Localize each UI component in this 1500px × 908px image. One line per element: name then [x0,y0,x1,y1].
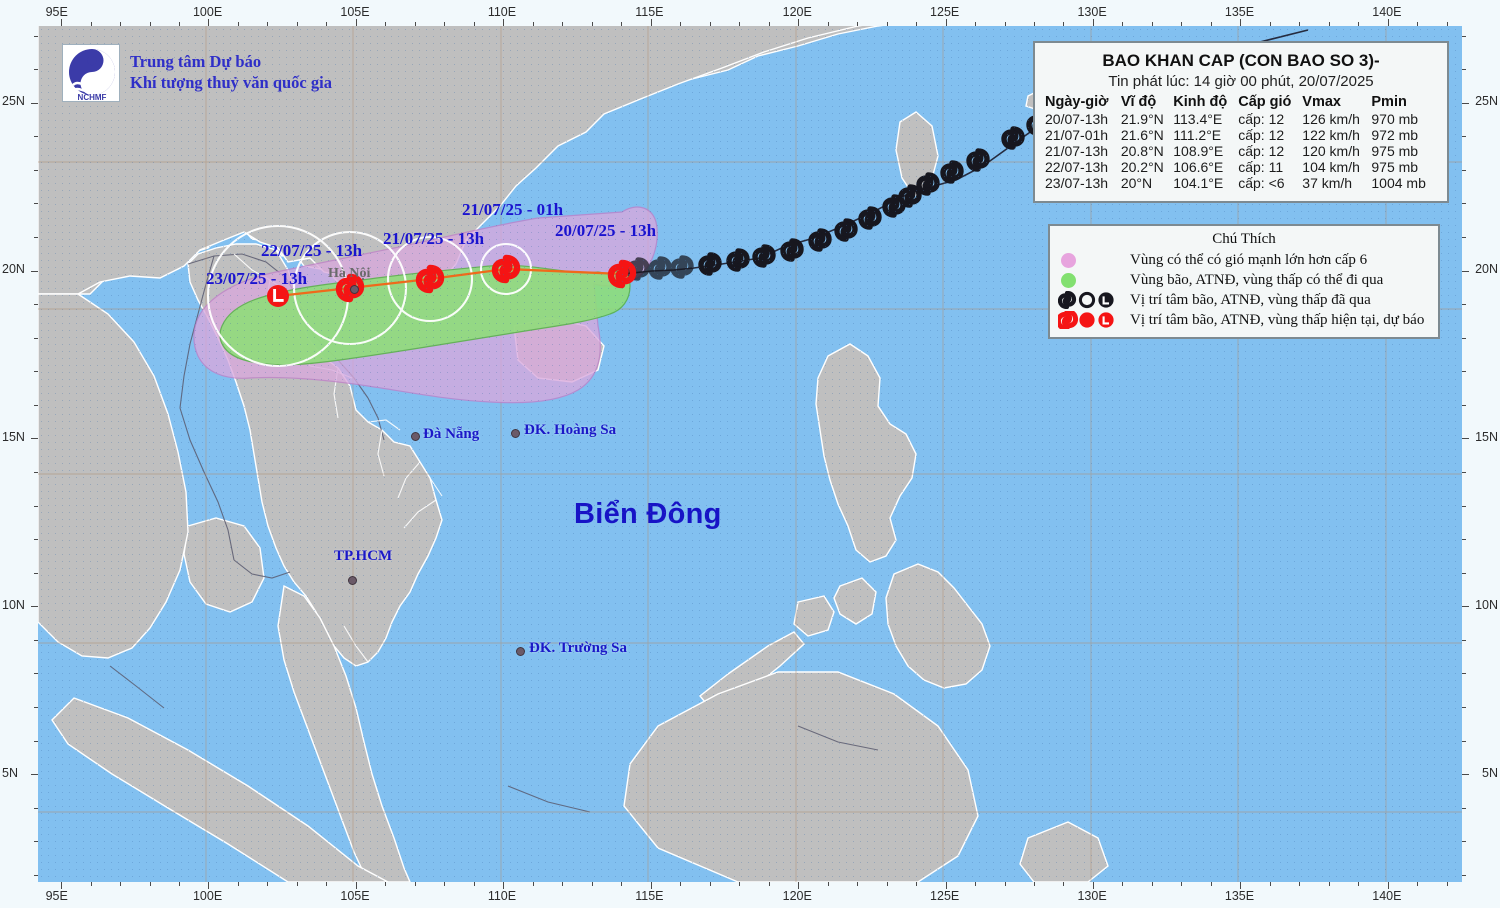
axis-minor-tick [592,882,593,886]
island-label-hoangsa: ĐK. Hoàng Sa [524,422,616,439]
cell-pmin: 972 mb [1371,127,1437,143]
axis-minor-tick [1462,808,1466,809]
annotation-22-07-13h: 22/07/25 - 13h [261,241,362,261]
axis-tick [356,882,357,889]
axis-minor-tick [1462,237,1466,238]
legend-title: Chú Thích [1058,231,1430,248]
axis-tick-label: 105E [340,889,369,903]
axis-minor-tick [857,882,858,886]
cell-lon: 106.6°E [1173,159,1238,175]
cell-datetime: 22/07-13h [1045,159,1121,175]
axis-tick [208,19,209,26]
axis-tick [1388,19,1389,26]
annotation-23-07-13h: 23/07/25 - 13h [206,269,307,289]
axis-minor-tick [1152,882,1153,886]
pink-circle-icon [1061,253,1076,268]
axis-tick-label: 105E [340,5,369,19]
axis-minor-tick [415,882,416,886]
axis-tick [61,882,62,889]
axis-minor-tick [1462,69,1466,70]
axis-tick [31,103,38,104]
axis-tick-label: 20N [2,262,25,276]
axis-minor-tick [1462,136,1466,137]
axis-tick [208,882,209,889]
bulletin-issue-time: Tin phát lúc: 14 giờ 00 phút, 20/07/2025 [1045,73,1437,90]
axis-tick [31,271,38,272]
annotation-21-07-01h: 21/07/25 - 01h [462,200,563,220]
cell-vmax: 120 km/h [1302,143,1371,159]
axis-tick [31,606,38,607]
cell-lon: 113.4°E [1173,111,1238,127]
axis-minor-tick [1462,539,1466,540]
axis-minor-tick [1122,882,1123,886]
axis-tick [1462,774,1469,775]
axis-tick [503,19,504,26]
land-luzon [816,344,916,562]
axis-minor-tick [1063,882,1064,886]
axis-tick-label: 130E [1077,5,1106,19]
sea-name-label: Biển Đông [574,498,722,531]
cell-lat: 21.9°N [1121,111,1173,127]
axis-tick-label: 140E [1372,889,1401,903]
table-row: 23/07-13h 20°N 104.1°E cấp: <6 37 km/h 1… [1045,175,1437,191]
axis-tick-label: 125E [930,889,959,903]
axis-minor-tick [1358,882,1359,886]
axis-tick-label: 120E [783,5,812,19]
table-row: 21/07-01h 21.6°N 111.2°E cấp: 12 122 km/… [1045,127,1437,143]
cell-pmin: 975 mb [1371,159,1437,175]
axis-tick [651,882,652,889]
axis-minor-tick [1462,640,1466,641]
red-storm-set-icon [1058,311,1118,329]
axis-minor-tick [1462,371,1466,372]
legend-panel: Chú Thích Vùng có thể có gió mạnh lớn hơ… [1048,224,1440,339]
axis-tick [1240,19,1241,26]
axis-minor-tick [916,882,917,886]
cell-pmin: 970 mb [1371,111,1437,127]
axis-minor-tick [562,882,563,886]
axis-tick-label: 110E [488,5,516,19]
axis-tick-label: 135E [1225,889,1254,903]
axis-minor-tick [179,882,180,886]
nchmf-logo-icon: NCHMF [62,44,120,102]
axis-right: 25N20N15N10N5N [1462,0,1500,908]
logo-text: NCHMF [78,93,107,102]
land-mindanao [886,564,990,688]
cell-grade: cấp: 11 [1238,159,1302,175]
annotation-20-07-13h: 20/07/25 - 13h [555,221,656,241]
cell-lat: 20.2°N [1121,159,1173,175]
axis-tick-label: 125E [930,5,959,19]
legend-label: Vùng bão, ATNĐ, vùng thấp có thể đi qua [1130,272,1383,289]
col-lon: Kinh độ [1173,94,1238,111]
land-sulawesi [1020,822,1108,882]
black-storm-set-icon [1058,291,1118,309]
legend-symbols [1058,273,1122,288]
axis-tick [503,882,504,889]
cell-lat: 20°N [1121,175,1173,191]
city-dot-hanoi [350,285,359,294]
axis-minor-tick [1462,841,1466,842]
axis-tick-label: 120E [783,889,812,903]
axis-minor-tick [975,882,976,886]
axis-tick [651,19,652,26]
axis-minor-tick [1034,882,1035,886]
axis-minor-tick [1181,882,1182,886]
axis-minor-tick [1462,203,1466,204]
col-vmax: Vmax [1302,94,1371,111]
axis-tick [1093,19,1094,26]
legend-item-current-forecast-positions: Vị trí tâm bão, ATNĐ, vùng thấp hiện tại… [1058,310,1430,330]
legend-symbols [1058,311,1122,329]
island-dot-truongsa [516,647,525,656]
col-datetime: Ngày-giờ [1045,94,1121,111]
axis-tick-label: 95E [46,5,68,19]
cell-vmax: 122 km/h [1302,127,1371,143]
axis-minor-tick [1462,673,1466,674]
axis-minor-tick [1462,875,1466,876]
forecast-table: Ngày-giờ Vĩ độ Kinh độ Cấp gió Vmax Pmin… [1045,94,1437,191]
org-name-line1: Trung tâm Dự báo [130,52,332,73]
axis-minor-tick [150,882,151,886]
legend-symbols [1058,291,1122,309]
organization-name: Trung tâm Dự báo Khí tượng thuỷ văn quốc… [130,52,332,93]
cell-datetime: 20/07-13h [1045,111,1121,127]
axis-tick [1462,438,1469,439]
past-track-storm-markers [701,99,1075,273]
col-pmin: Pmin [1371,94,1437,111]
axis-tick-label: 20N [1475,262,1498,276]
legend-item-strong-wind: Vùng có thể có gió mạnh lớn hơn cấp 6 [1058,250,1430,270]
axis-tick-label: 10N [1475,598,1498,612]
axis-minor-tick [267,882,268,886]
legend-item-storm-area: Vùng bão, ATNĐ, vùng thấp có thể đi qua [1058,270,1430,290]
axis-tick-label: 95E [46,889,68,903]
axis-top: 95E100E105E110E115E120E125E130E135E140E [0,0,1500,26]
axis-minor-tick [739,882,740,886]
col-grade: Cấp gió [1238,94,1302,111]
axis-tick-label: 25N [2,94,25,108]
axis-tick-label: 115E [635,5,663,19]
cell-datetime: 23/07-13h [1045,175,1121,191]
axis-tick [61,19,62,26]
axis-minor-tick [1417,882,1418,886]
axis-minor-tick [297,882,298,886]
table-row: 22/07-13h 20.2°N 106.6°E cấp: 11 104 km/… [1045,159,1437,175]
axis-minor-tick [1462,472,1466,473]
axis-minor-tick [769,882,770,886]
axis-minor-tick [326,882,327,886]
axis-minor-tick [1299,882,1300,886]
axis-tick-label: 5N [1482,766,1498,780]
axis-tick-label: 15N [1475,430,1498,444]
land-cambodia-coast [184,518,264,612]
axis-tick [1462,103,1469,104]
axis-tick [1388,882,1389,889]
bulletin-title: BAO KHAN CAP (CON BAO SO 3)- [1045,51,1437,71]
annotation-21-07-13h: 21/07/25 - 13h [383,229,484,249]
legend-label: Vị trí tâm bão, ATNĐ, vùng thấp hiện tại… [1130,312,1424,329]
axis-tick [798,19,799,26]
green-circle-icon [1061,273,1076,288]
axis-minor-tick [1329,882,1330,886]
axis-minor-tick [1462,36,1466,37]
axis-tick-label: 10N [2,598,25,612]
land-borneo [624,672,978,882]
axis-bottom: 95E100E105E110E115E120E125E130E135E140E [0,882,1500,908]
axis-tick-label: 15N [2,430,25,444]
cell-grade: cấp: 12 [1238,111,1302,127]
axis-minor-tick [621,882,622,886]
axis-minor-tick [710,882,711,886]
cell-datetime: 21/07-01h [1045,127,1121,143]
axis-tick [1462,606,1469,607]
axis-tick [798,882,799,889]
city-dot-tphcm [348,576,357,585]
axis-minor-tick [1462,741,1466,742]
city-label-hanoi: Hà Nội [328,266,370,282]
legend-label: Vị trí tâm bão, ATNĐ, vùng thấp đã qua [1130,292,1371,309]
organization-branding: NCHMF Trung tâm Dự báo Khí tượng thuỷ vă… [62,44,332,102]
axis-tick-label: 25N [1475,94,1498,108]
legend-item-past-positions: Vị trí tâm bão, ATNĐ, vùng thấp đã qua [1058,290,1430,310]
axis-tick [946,19,947,26]
cell-pmin: 1004 mb [1371,175,1437,191]
axis-minor-tick [1270,882,1271,886]
land-panay [834,578,876,624]
cell-grade: cấp: 12 [1238,143,1302,159]
table-header-row: Ngày-giờ Vĩ độ Kinh độ Cấp gió Vmax Pmin [1045,94,1437,111]
city-label-danang: Đà Nẵng [423,426,479,443]
land-palawan-n [794,596,834,636]
axis-minor-tick [238,882,239,886]
city-label-tphcm: TP.HCM [334,548,392,565]
col-lat: Vĩ độ [1121,94,1173,111]
typhoon-forecast-map-page: 95E100E105E110E115E120E125E130E135E140E … [0,0,1500,908]
axis-minor-tick [887,882,888,886]
axis-minor-tick [1447,882,1448,886]
axis-left: 25N20N15N10N5N [0,0,38,908]
cell-lon: 108.9°E [1173,143,1238,159]
axis-tick [356,19,357,26]
island-dot-hoangsa [511,429,520,438]
axis-minor-tick [828,882,829,886]
cell-grade: cấp: <6 [1238,175,1302,191]
cell-vmax: 104 km/h [1302,159,1371,175]
island-label-truongsa: ĐK. Trường Sa [529,640,627,657]
cell-pmin: 975 mb [1371,143,1437,159]
axis-minor-tick [1462,170,1466,171]
city-dot-danang [411,432,420,441]
axis-tick-label: 130E [1077,889,1106,903]
axis-minor-tick [1462,573,1466,574]
axis-minor-tick [1211,882,1212,886]
axis-minor-tick [1462,506,1466,507]
axis-tick-label: 110E [488,889,516,903]
past-track-recent-markers [629,258,691,278]
axis-tick-label: 140E [1372,5,1401,19]
legend-label: Vùng có thể có gió mạnh lớn hơn cấp 6 [1130,252,1367,269]
bulletin-info-panel: BAO KHAN CAP (CON BAO SO 3)- Tin phát lú… [1033,41,1449,203]
logo-emblem-icon: NCHMF [63,45,121,103]
axis-minor-tick [444,882,445,886]
axis-tick [31,774,38,775]
cell-lon: 104.1°E [1173,175,1238,191]
axis-tick-label: 5N [2,766,18,780]
cell-vmax: 37 km/h [1302,175,1371,191]
axis-minor-tick [1462,405,1466,406]
axis-tick-label: 115E [635,889,663,903]
axis-tick [31,438,38,439]
axis-minor-tick [680,882,681,886]
land-thailand-myanmar [38,294,188,658]
axis-tick-label: 100E [193,5,222,19]
cell-vmax: 126 km/h [1302,111,1371,127]
axis-minor-tick [91,882,92,886]
org-name-line2: Khí tượng thuỷ văn quốc gia [130,73,332,94]
axis-tick [1093,882,1094,889]
axis-minor-tick [1462,338,1466,339]
cell-lon: 111.2°E [1173,127,1238,143]
legend-symbols [1058,253,1122,268]
axis-minor-tick [1462,707,1466,708]
axis-tick [946,882,947,889]
cell-lat: 21.6°N [1121,127,1173,143]
axis-tick-label: 100E [193,889,222,903]
axis-minor-tick [474,882,475,886]
axis-tick [1462,271,1469,272]
axis-minor-tick [533,882,534,886]
axis-minor-tick [385,882,386,886]
cell-grade: cấp: 12 [1238,127,1302,143]
axis-tick [1240,882,1241,889]
table-row: 21/07-13h 20.8°N 108.9°E cấp: 12 120 km/… [1045,143,1437,159]
axis-minor-tick [1462,304,1466,305]
axis-minor-tick [1005,882,1006,886]
table-row: 20/07-13h 21.9°N 113.4°E cấp: 12 126 km/… [1045,111,1437,127]
cell-lat: 20.8°N [1121,143,1173,159]
axis-tick-label: 135E [1225,5,1254,19]
axis-minor-tick [120,882,121,886]
cell-datetime: 21/07-13h [1045,143,1121,159]
